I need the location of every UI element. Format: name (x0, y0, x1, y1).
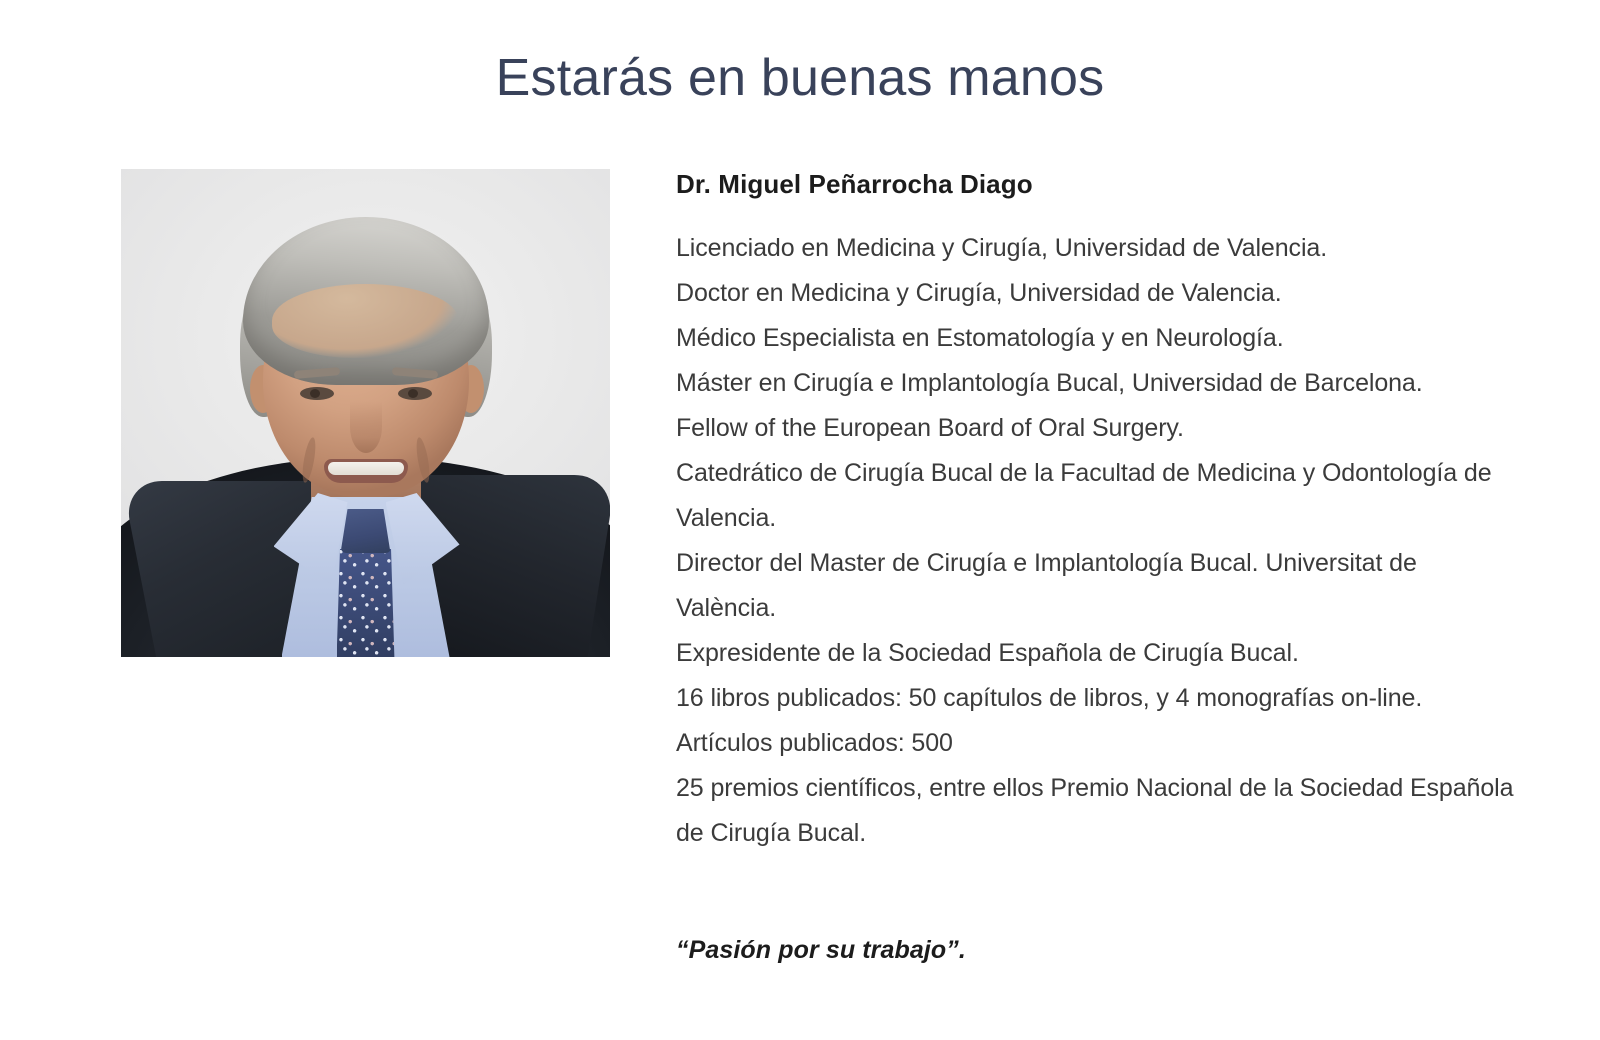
credential-item: Licenciado en Medicina y Cirugía, Univer… (676, 226, 1516, 271)
page-title: Estarás en buenas manos (0, 49, 1600, 109)
credential-item: 16 libros publicados: 50 capítulos de li… (676, 676, 1516, 721)
doctor-quote: “Pasión por su trabajo”. (676, 936, 1516, 965)
credential-item: Catedrático de Cirugía Bucal de la Facul… (676, 451, 1516, 541)
credential-item: 25 premios científicos, entre ellos Prem… (676, 766, 1516, 856)
necktie-body (337, 549, 395, 657)
credentials-list: Licenciado en Medicina y Cirugía, Univer… (676, 226, 1516, 856)
credential-item: Director del Master de Cirugía e Implant… (676, 541, 1516, 631)
credential-item: Artículos publicados: 500 (676, 721, 1516, 766)
page-root: Estarás en buenas manos (0, 0, 1600, 1040)
credential-item: Fellow of the European Board of Oral Sur… (676, 406, 1516, 451)
eye-right (398, 387, 432, 400)
credential-item: Doctor en Medicina y Cirugía, Universida… (676, 271, 1516, 316)
credential-item: Médico Especialista en Estomatología y e… (676, 316, 1516, 361)
doctor-name: Dr. Miguel Peñarrocha Diago (676, 169, 1516, 200)
doctor-bio: Dr. Miguel Peñarrocha Diago Licenciado e… (676, 169, 1516, 965)
mouth-shape (324, 459, 408, 483)
teeth-shape (328, 462, 404, 475)
credential-item: Máster en Cirugía e Implantología Bucal,… (676, 361, 1516, 406)
nose-shape (350, 401, 382, 453)
eye-left (300, 387, 334, 400)
credential-item: Expresidente de la Sociedad Española de … (676, 631, 1516, 676)
doctor-portrait-image (121, 169, 610, 657)
portrait-illustration (121, 169, 610, 657)
necktie-knot (341, 509, 391, 553)
